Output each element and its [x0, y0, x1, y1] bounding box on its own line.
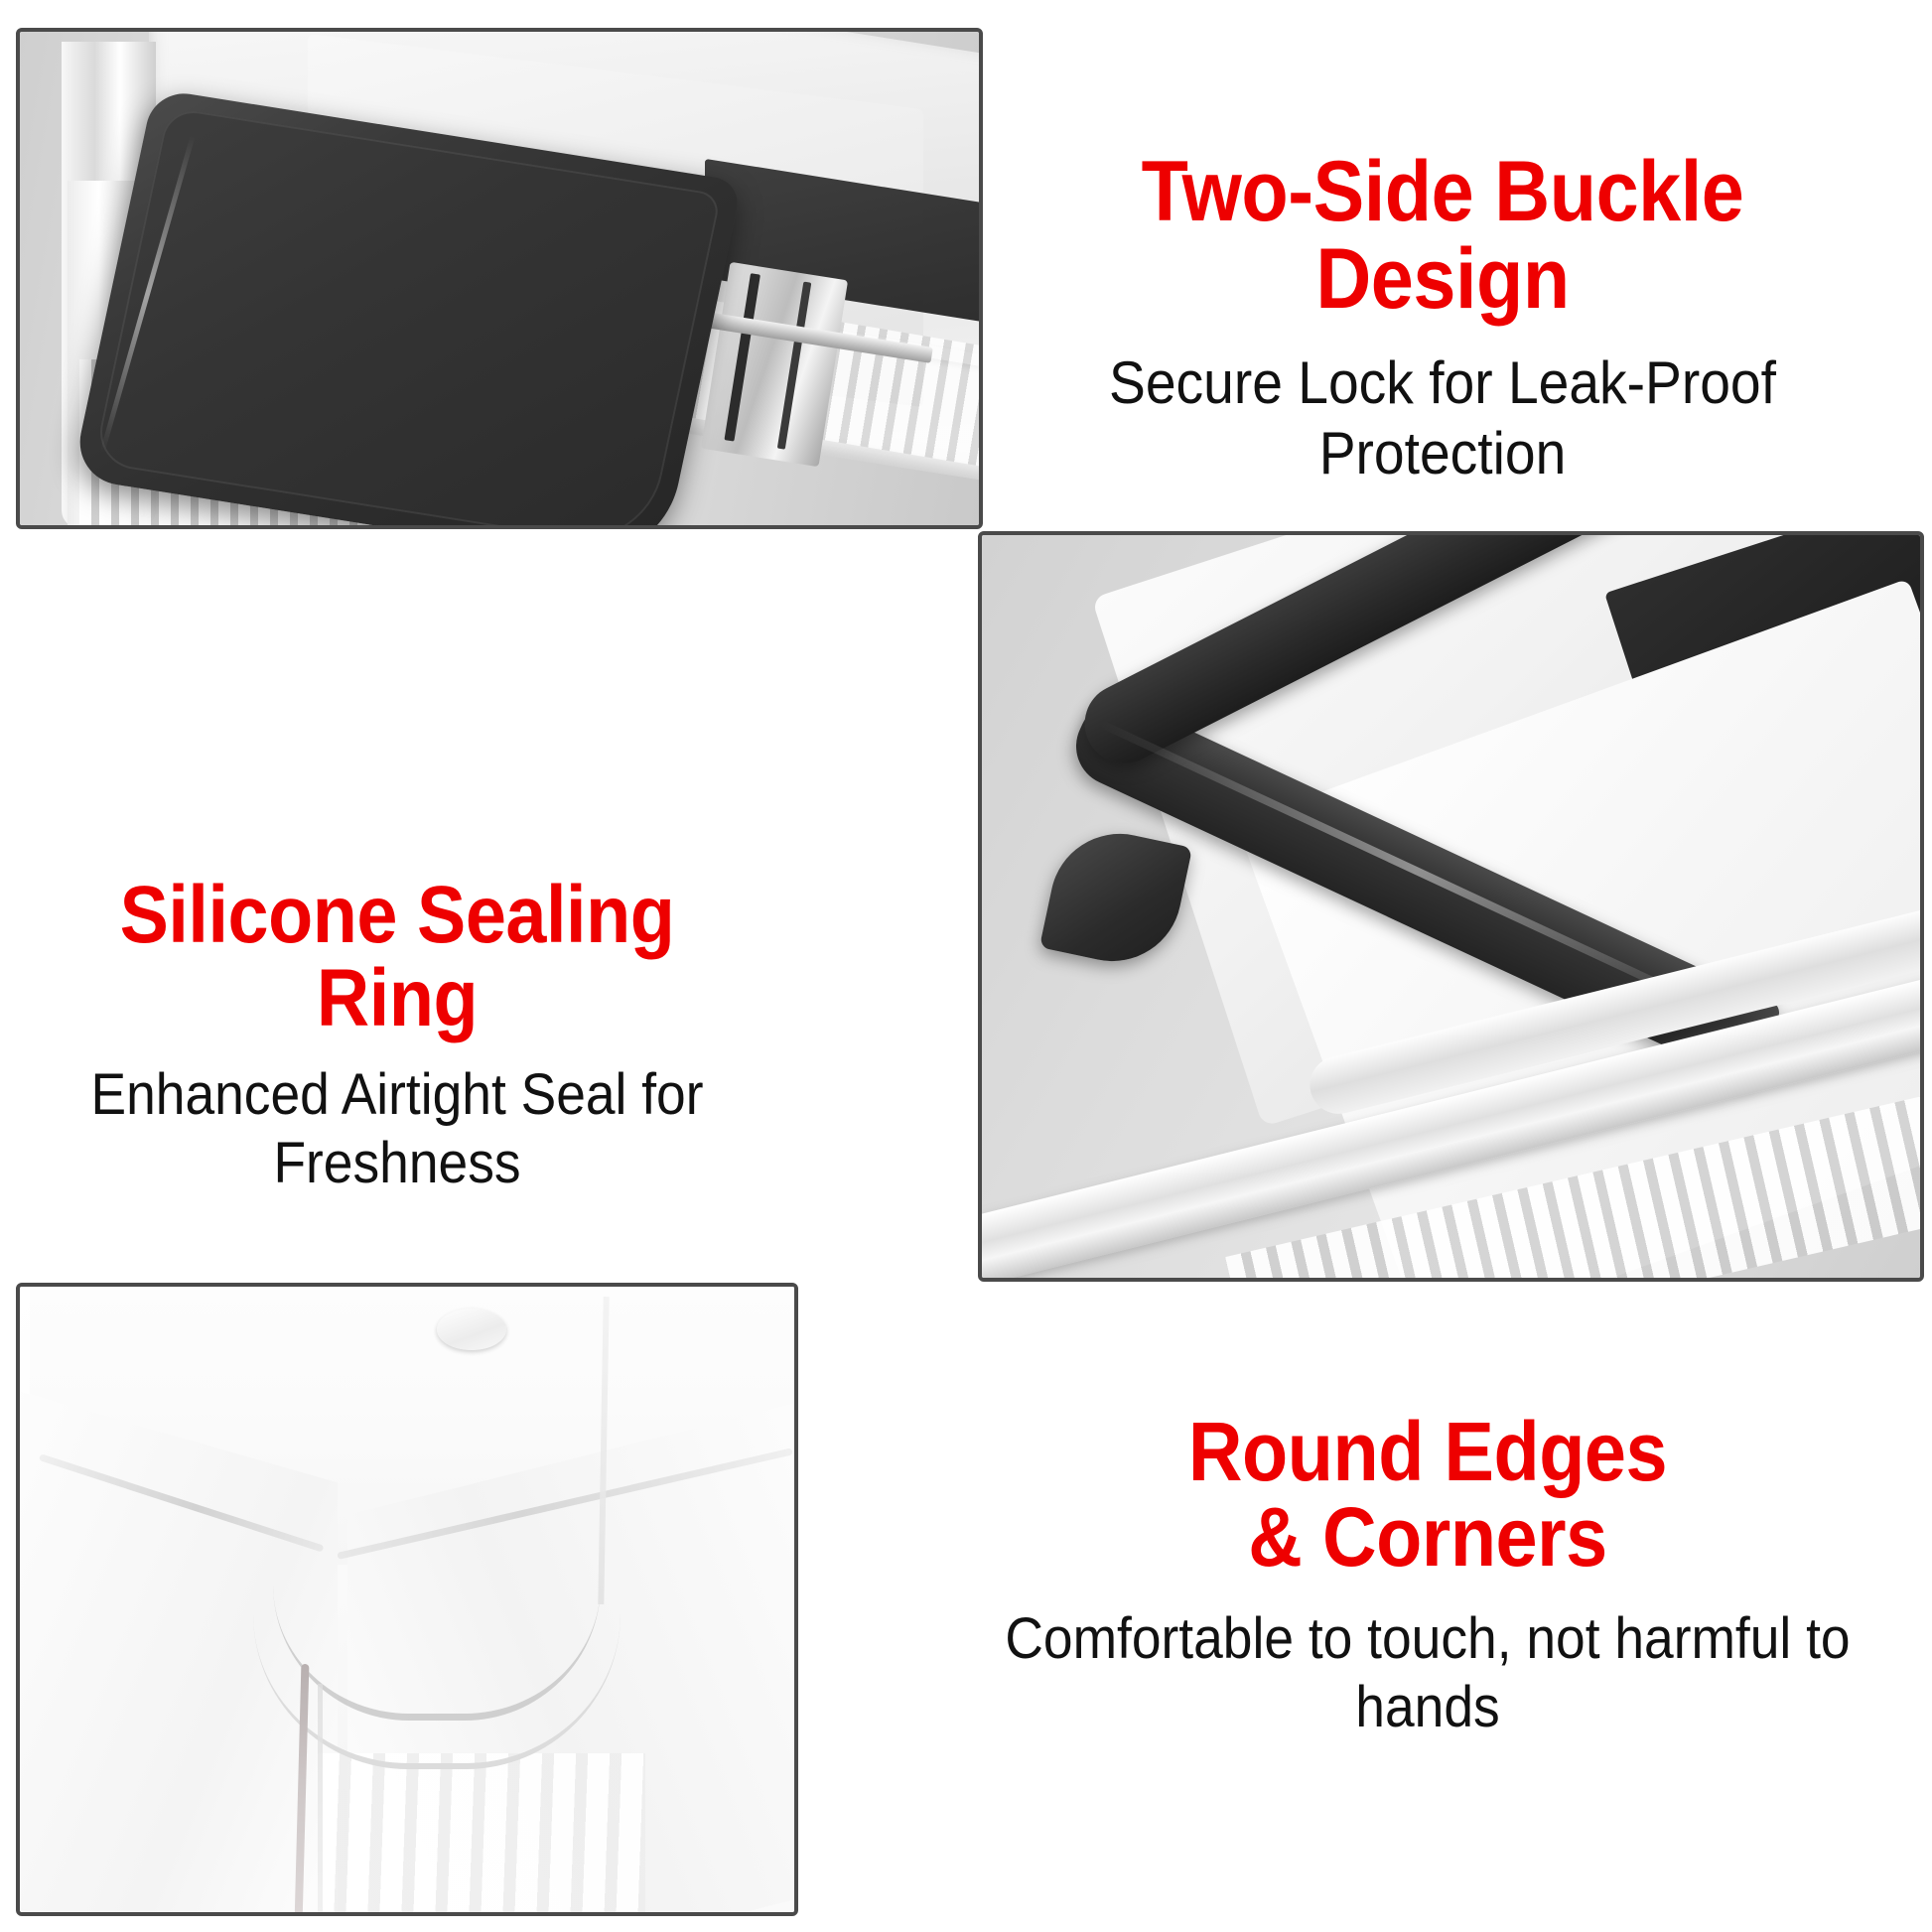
headline-line-1: Round Edges: [1188, 1405, 1667, 1498]
feature-subtitle-two-side-buckle: Secure Lock for Leak-Proof Protection: [992, 348, 1892, 489]
infographic-canvas: Two-Side BuckleDesign Secure Lock for Le…: [0, 0, 1932, 1932]
headline-line-2: Design: [1315, 231, 1569, 327]
feature-subtitle-round-edges-corners: Comfortable to touch, not harmful to han…: [964, 1605, 1892, 1741]
feature-headline-two-side-buckle: Two-Side BuckleDesign: [1002, 149, 1882, 323]
feature-headline-round-edges-corners: Round Edges& Corners: [974, 1410, 1881, 1580]
buckle-flap-inner: [93, 107, 722, 529]
photo-panel-two-side-buckle: [16, 28, 983, 529]
headline-line-1: Two-Side Buckle: [1142, 144, 1744, 239]
headline-line-2: & Corners: [1248, 1490, 1606, 1584]
feature-headline-silicone-sealing-ring: Silicone Sealing Ring: [40, 874, 755, 1039]
feature-text-silicone-sealing-ring: Silicone Sealing Ring Enhanced Airtight …: [0, 874, 794, 1197]
photo-panel-silicone-sealing-ring: [978, 531, 1924, 1282]
container-wall-ribs: [318, 1753, 645, 1916]
feature-subtitle-silicone-sealing-ring: Enhanced Airtight Seal for Freshness: [32, 1061, 762, 1197]
photo-panel-round-edges-corners: [16, 1283, 798, 1916]
container-top-droplet-detail: [437, 1309, 506, 1350]
feature-text-two-side-buckle: Two-Side BuckleDesign Secure Lock for Le…: [953, 149, 1932, 489]
feature-text-round-edges-corners: Round Edges& Corners Comfortable to touc…: [923, 1410, 1932, 1741]
container-corner-seam-highlight: [318, 1684, 323, 1916]
